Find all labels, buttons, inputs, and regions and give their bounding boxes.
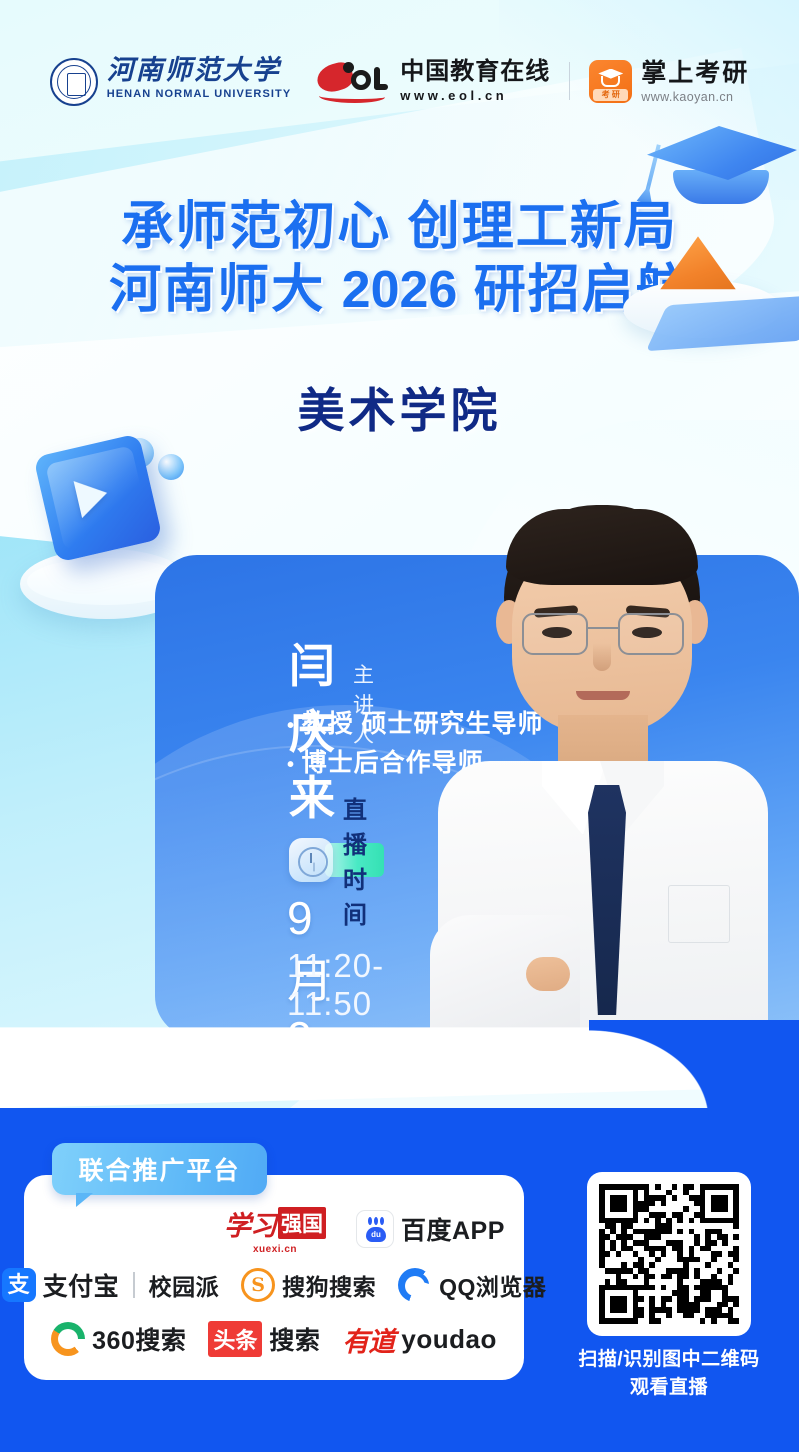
clock-icon: [289, 838, 333, 882]
live-time-range: 11:20-11:50: [287, 947, 384, 1023]
partner-360[interactable]: 360搜索: [51, 1321, 186, 1357]
kaoyan-icon-text: 考 研: [593, 89, 628, 101]
title-year: 2026: [342, 261, 458, 319]
toutiao-icon: 头条: [208, 1321, 262, 1357]
speaker-portrait: [430, 465, 780, 1038]
partner-alipay[interactable]: 支 支付宝 校园派: [2, 1267, 220, 1303]
xuexi-icon: 学习强国 xuexi.cn: [224, 1204, 326, 1255]
promo-badge: 联合推广平台: [52, 1143, 267, 1195]
partner-qq-browser[interactable]: QQ浏览器: [398, 1268, 546, 1302]
baidu-paw-icon: du: [356, 1210, 394, 1248]
partner-divider: [133, 1272, 135, 1298]
college-name: 美术学院: [0, 372, 799, 441]
live-time-badge-label: 直播时间: [325, 843, 384, 877]
header-divider: [569, 62, 570, 100]
qr-caption-line-1: 扫描/识别图中二维码: [578, 1346, 760, 1374]
eol-url: www.eol.cn: [400, 88, 550, 103]
partner-row-1: 学习强国 xuexi.cn du 百度APP: [24, 1202, 524, 1256]
qr-block: 扫描/识别图中二维码 观看直播: [578, 1172, 760, 1401]
university-name-en: HENAN NORMAL UNIVERSITY: [107, 88, 292, 100]
partner-row-2: 支 支付宝 校园派 S 搜狗搜索 QQ浏览器: [24, 1258, 524, 1312]
play-triangle-icon: [74, 474, 112, 518]
partner-toutiao-label: 搜索: [269, 1321, 320, 1357]
qr-code-icon[interactable]: [587, 1172, 751, 1336]
xuexi-url: xuexi.cn: [253, 1244, 297, 1255]
eol-logo-icon: [317, 60, 391, 102]
partner-baidu-label: 百度APP: [401, 1211, 505, 1247]
sogou-icon: S: [241, 1268, 275, 1302]
live-time-badge-row: 直播时间: [289, 838, 384, 882]
partner-youdao-label: youdao: [401, 1324, 496, 1355]
qr-caption-line-2: 观看直播: [578, 1374, 760, 1402]
partner-youdao[interactable]: 有道 youdao: [342, 1320, 496, 1359]
partner-row-3: 360搜索 头条 搜索 有道 youdao: [24, 1312, 524, 1366]
youdao-icon: 有道: [342, 1320, 394, 1359]
qq-browser-icon: [398, 1268, 432, 1302]
eol-name: 中国教育在线: [400, 59, 550, 85]
kaoyan-name: 掌上考研: [641, 59, 749, 87]
logo-eol: 中国教育在线 www.eol.cn: [317, 59, 550, 102]
partner-alipay-label: 支付宝: [43, 1267, 120, 1303]
partner-xiaoyuanpai-label: 校园派: [149, 1268, 220, 1302]
partner-sogou[interactable]: S 搜狗搜索: [241, 1268, 376, 1302]
partner-baidu[interactable]: du 百度APP: [356, 1210, 505, 1248]
title-line-2-prefix: 河南师大: [109, 261, 341, 319]
partner-360-label: 360搜索: [92, 1321, 186, 1357]
kaoyan-cap-icon: 考 研: [589, 60, 632, 103]
header-logo-bar: 河南师范大学 HENAN NORMAL UNIVERSITY 中国教育在线 ww…: [0, 46, 799, 116]
logo-henan-normal-university: 河南师范大学 HENAN NORMAL UNIVERSITY: [50, 56, 292, 106]
partner-sogou-label: 搜狗搜索: [282, 1268, 376, 1302]
partner-qq-label: QQ浏览器: [439, 1268, 546, 1302]
poster-root: 河南师范大学 HENAN NORMAL UNIVERSITY 中国教育在线 ww…: [0, 0, 799, 1452]
partner-platform-card: 联合推广平台 学习强国 xuexi.cn du 百度APP 支 支付: [24, 1175, 524, 1380]
university-seal-icon: [50, 58, 98, 106]
partner-toutiao[interactable]: 头条 搜索: [208, 1321, 320, 1357]
kaoyan-url: www.kaoyan.cn: [641, 90, 749, 104]
360-icon: [51, 1322, 85, 1356]
footer-corner-curve: [589, 1020, 799, 1120]
logo-kaoyan: 考 研 掌上考研 www.kaoyan.cn: [589, 59, 749, 104]
partner-xuexi[interactable]: 学习强国 xuexi.cn: [224, 1204, 326, 1255]
university-name-cn: 河南师范大学: [107, 56, 292, 86]
alipay-icon: 支: [2, 1268, 36, 1302]
